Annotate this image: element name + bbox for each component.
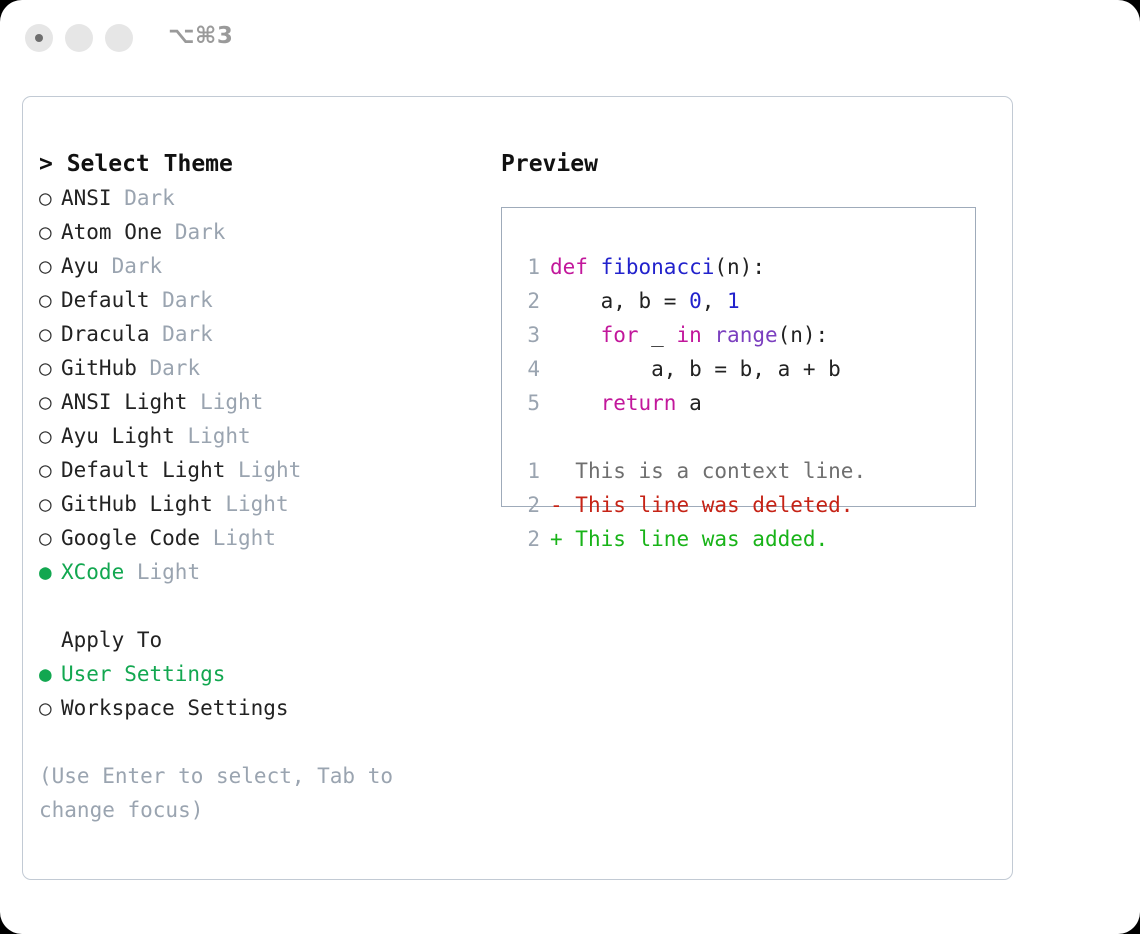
window-button-close[interactable]	[25, 24, 53, 52]
theme-option-ansi[interactable]: ○ANSI Dark	[39, 181, 479, 215]
theme-option-category: Dark	[162, 288, 213, 312]
code-token: def	[550, 255, 588, 279]
code-token	[550, 391, 601, 415]
theme-option-ansi-light[interactable]: ○ANSI Light Light	[39, 385, 479, 419]
code-token	[588, 255, 601, 279]
diff-line: 2- This line was deleted.	[518, 488, 975, 522]
theme-option-category: Dark	[112, 254, 163, 278]
code-token: fibonacci	[601, 255, 715, 279]
apply-to-option-user-settings[interactable]: ●User Settings	[39, 657, 479, 691]
theme-option-label: Google Code	[61, 526, 200, 550]
radio-selected-icon: ●	[39, 555, 61, 589]
theme-option-label: Ayu	[61, 254, 99, 278]
code-token: a	[676, 391, 701, 415]
code-token: (n):	[778, 323, 829, 347]
code-token: for	[601, 323, 639, 347]
code-line-number: 3	[518, 318, 540, 352]
window-button-close-dot	[35, 34, 43, 42]
diff-line: 2+ This line was added.	[518, 522, 975, 556]
theme-option-gap	[187, 390, 200, 414]
radio-unselected-icon: ○	[39, 283, 61, 317]
theme-option-gap	[150, 322, 163, 346]
theme-option-dracula[interactable]: ○Dracula Dark	[39, 317, 479, 351]
code-token	[550, 323, 601, 347]
diff-marker: +	[550, 527, 563, 551]
theme-option-label: GitHub	[61, 356, 137, 380]
radio-unselected-icon: ○	[39, 181, 61, 215]
radio-unselected-icon: ○	[39, 317, 61, 351]
theme-option-category: Dark	[124, 186, 175, 210]
code-line-number: 4	[518, 352, 540, 386]
theme-option-google-code[interactable]: ○Google Code Light	[39, 521, 479, 555]
code-token	[702, 323, 715, 347]
window-button-minimize[interactable]	[65, 24, 93, 52]
preview-header: Preview	[501, 147, 991, 181]
code-token: (n):	[714, 255, 765, 279]
titlebar-shortcut-label: ⌥⌘3	[168, 23, 233, 49]
theme-option-category: Dark	[162, 322, 213, 346]
theme-option-gap	[112, 186, 125, 210]
theme-option-label: Dracula	[61, 322, 150, 346]
theme-option-atom-one[interactable]: ○Atom One Dark	[39, 215, 479, 249]
apply-to-option-label: User Settings	[61, 662, 225, 686]
code-token: return	[601, 391, 677, 415]
theme-option-ayu[interactable]: ○Ayu Dark	[39, 249, 479, 283]
radio-unselected-icon: ○	[39, 351, 61, 385]
theme-option-gap	[162, 220, 175, 244]
theme-option-gap	[99, 254, 112, 278]
apply-to-option-label: Workspace Settings	[61, 696, 289, 720]
theme-option-label: GitHub Light	[61, 492, 213, 516]
theme-option-category: Light	[137, 560, 200, 584]
theme-option-github-light[interactable]: ○GitHub Light Light	[39, 487, 479, 521]
theme-option-label: XCode	[61, 560, 124, 584]
theme-list-column: > Select Theme ○ANSI Dark○Atom One Dark○…	[39, 147, 479, 827]
apply-to-list: ●User Settings○Workspace Settings	[39, 657, 479, 725]
diff-text: This line was added.	[563, 527, 829, 551]
theme-list: ○ANSI Dark○Atom One Dark○Ayu Dark○Defaul…	[39, 181, 479, 589]
theme-option-xcode[interactable]: ●XCode Light	[39, 555, 479, 589]
radio-unselected-icon: ○	[39, 249, 61, 283]
diff-marker	[550, 459, 563, 483]
radio-unselected-icon: ○	[39, 385, 61, 419]
theme-option-ayu-light[interactable]: ○Ayu Light Light	[39, 419, 479, 453]
theme-option-category: Light	[225, 492, 288, 516]
app-window: ⌥⌘3 > Select Theme ○ANSI Dark○Atom One D…	[0, 0, 1140, 934]
diff-line-number: 2	[518, 488, 540, 522]
theme-option-github[interactable]: ○GitHub Dark	[39, 351, 479, 385]
code-line: 4 a, b = b, a + b	[518, 352, 975, 386]
code-line: 5 return a	[518, 386, 975, 420]
theme-option-gap	[200, 526, 213, 550]
preview-box: 1def fibonacci(n):2 a, b = 0, 13 for _ i…	[501, 207, 976, 507]
radio-unselected-icon: ○	[39, 419, 61, 453]
diff-sample: 1 This is a context line.2- This line wa…	[518, 454, 975, 556]
theme-option-label: ANSI Light	[61, 390, 187, 414]
code-line: 2 a, b = 0, 1	[518, 284, 975, 318]
radio-unselected-icon: ○	[39, 215, 61, 249]
theme-option-category: Dark	[175, 220, 226, 244]
code-token: a, b = b, a + b	[550, 357, 841, 381]
diff-line-number: 2	[518, 522, 540, 556]
titlebar: ⌥⌘3	[0, 0, 1140, 78]
code-line-number: 5	[518, 386, 540, 420]
keyboard-hint-text: (Use Enter to select, Tab to change focu…	[39, 759, 439, 827]
theme-option-gap	[137, 356, 150, 380]
theme-option-default-light[interactable]: ○Default Light Light	[39, 453, 479, 487]
code-token: _	[639, 323, 677, 347]
code-token: range	[714, 323, 777, 347]
diff-text: This is a context line.	[563, 459, 866, 483]
theme-option-category: Light	[187, 424, 250, 448]
code-line: 1def fibonacci(n):	[518, 250, 975, 284]
diff-line-number: 1	[518, 454, 540, 488]
theme-option-gap	[124, 560, 137, 584]
code-diff-spacer	[518, 420, 975, 454]
theme-option-gap	[175, 424, 188, 448]
code-line-number: 1	[518, 250, 540, 284]
radio-unselected-icon: ○	[39, 691, 61, 725]
theme-option-category: Light	[213, 526, 276, 550]
theme-option-gap	[150, 288, 163, 312]
code-line-number: 2	[518, 284, 540, 318]
code-token: 0	[689, 289, 702, 313]
theme-option-category: Light	[200, 390, 263, 414]
code-token: a, b =	[550, 289, 689, 313]
code-token: ,	[702, 289, 727, 313]
theme-option-category: Dark	[150, 356, 201, 380]
apply-to-option-workspace-settings[interactable]: ○Workspace Settings	[39, 691, 479, 725]
radio-unselected-icon: ○	[39, 487, 61, 521]
theme-option-default[interactable]: ○Default Dark	[39, 283, 479, 317]
radio-selected-icon: ●	[39, 657, 61, 691]
code-token: 1	[727, 289, 740, 313]
theme-option-category: Light	[238, 458, 301, 482]
code-line: 3 for _ in range(n):	[518, 318, 975, 352]
theme-option-label: Default	[61, 288, 150, 312]
preview-column: Preview 1def fibonacci(n):2 a, b = 0, 13…	[501, 147, 991, 507]
code-token: in	[676, 323, 701, 347]
apply-to-header: Apply To	[39, 623, 479, 657]
theme-option-label: Default Light	[61, 458, 225, 482]
radio-unselected-icon: ○	[39, 521, 61, 555]
theme-option-label: Ayu Light	[61, 424, 175, 448]
window-button-maximize[interactable]	[105, 24, 133, 52]
diff-text: This line was deleted.	[563, 493, 854, 517]
theme-option-gap	[213, 492, 226, 516]
diff-marker: -	[550, 493, 563, 517]
theme-option-gap	[225, 458, 238, 482]
theme-picker-panel: > Select Theme ○ANSI Dark○Atom One Dark○…	[22, 96, 1013, 880]
code-sample: 1def fibonacci(n):2 a, b = 0, 13 for _ i…	[518, 250, 975, 420]
radio-unselected-icon: ○	[39, 453, 61, 487]
theme-option-label: ANSI	[61, 186, 112, 210]
theme-option-label: Atom One	[61, 220, 162, 244]
diff-line: 1 This is a context line.	[518, 454, 975, 488]
select-theme-header: > Select Theme	[39, 147, 479, 181]
